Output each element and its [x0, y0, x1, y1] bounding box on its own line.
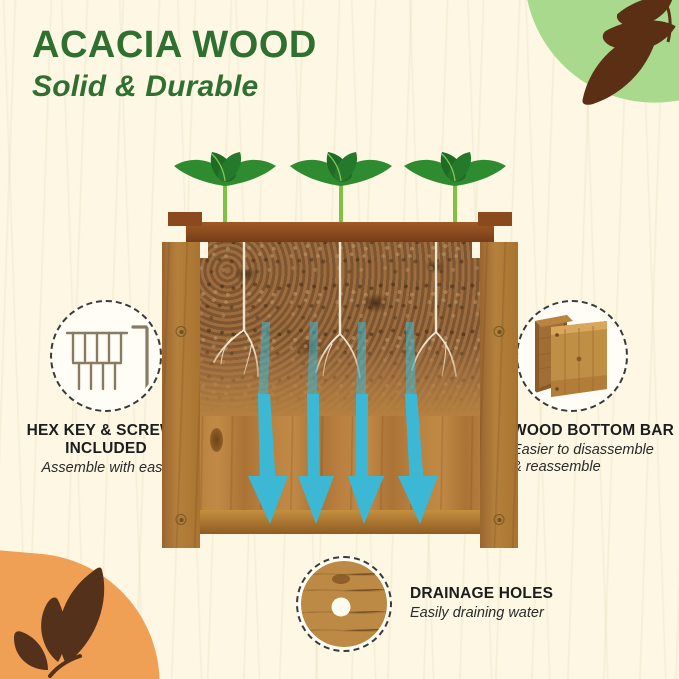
feature-subtitle: Easily draining water: [410, 605, 553, 622]
wood-knot: [210, 428, 223, 452]
feature-title: WOOD BOTTOM BAR: [512, 422, 679, 440]
product-infographic: ACACIA WOOD Solid & Durable: [0, 0, 679, 679]
box-right-post: [480, 242, 518, 548]
box-top-corner-cap: [168, 212, 202, 226]
screw: [494, 326, 505, 337]
feature-wood-bottom-bar: WOOD BOTTOM BAR Easier to disassemble & …: [512, 300, 679, 477]
screws-and-hex-key-icon: [50, 300, 162, 412]
planter-box-illustration: [162, 148, 518, 558]
soil-cross-section: [192, 234, 488, 416]
top-right-leaf-decoration: [547, 0, 677, 119]
screw: [176, 326, 187, 337]
wood-bottom-panel-icon: [516, 300, 628, 412]
screw: [494, 514, 505, 525]
box-top-rail: [186, 222, 494, 242]
feature-drainage-holes: DRAINAGE HOLES Easily draining water: [296, 556, 626, 652]
feature-subtitle: Easier to disassemble & reassemble: [512, 442, 679, 477]
box-left-post: [162, 242, 200, 548]
bottom-left-leaf-decoration: [6, 560, 146, 679]
feature-text: DRAINAGE HOLES Easily draining water: [410, 585, 553, 622]
page-subtitle: Solid & Durable: [32, 70, 462, 104]
box-top-corner-cap: [478, 212, 512, 226]
box-bottom-rail: [188, 510, 492, 534]
screw: [176, 514, 187, 525]
drainage-hole-icon: [296, 556, 392, 652]
page-title: ACACIA WOOD: [32, 26, 462, 66]
soil-to-wood-fade: [192, 342, 488, 416]
feature-subtitle-line2: & reassemble: [512, 459, 601, 475]
feature-text: WOOD BOTTOM BAR Easier to disassemble & …: [512, 422, 679, 477]
feature-subtitle-line1: Easier to disassemble: [512, 442, 654, 458]
feature-title-line2: INCLUDED: [65, 440, 147, 457]
heading-block: ACACIA WOOD Solid & Durable: [32, 26, 462, 104]
planter-box: [162, 204, 518, 558]
feature-title: DRAINAGE HOLES: [410, 585, 553, 603]
